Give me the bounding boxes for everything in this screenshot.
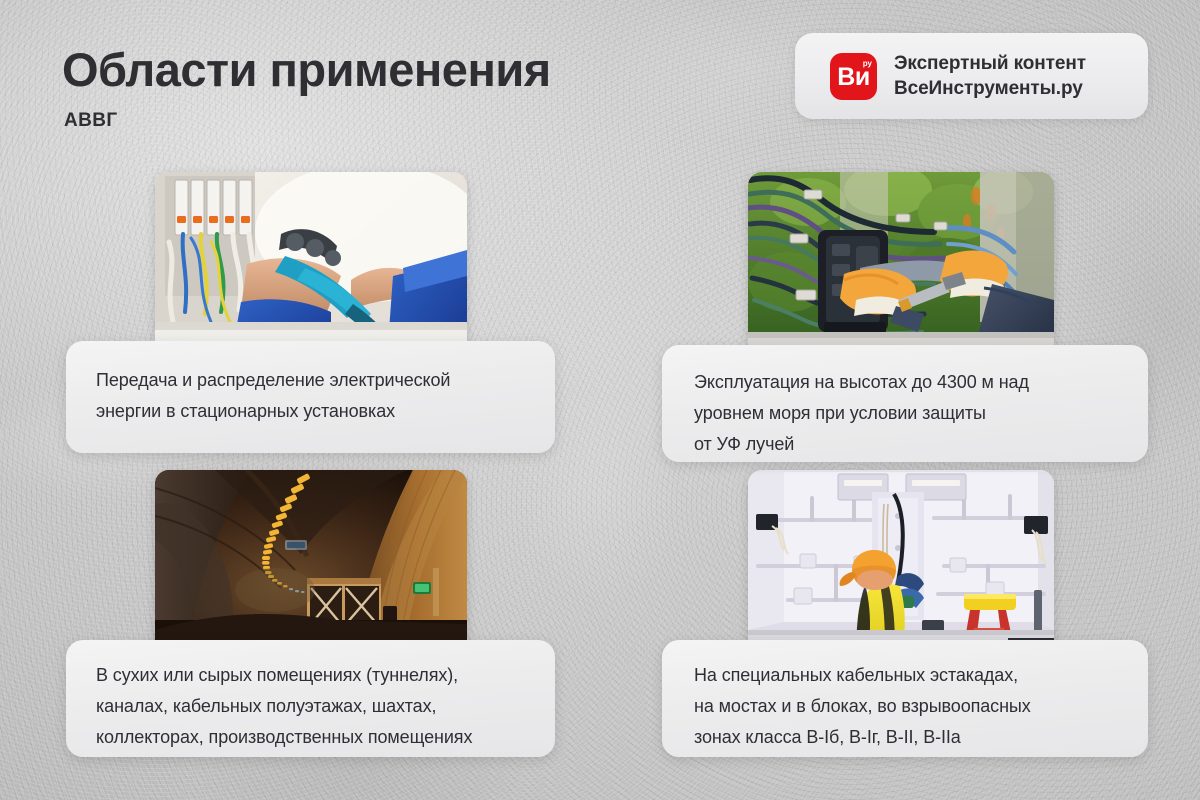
page-title: Области применения [62, 42, 551, 97]
photo-worker-installing-conduit-on-wall [748, 470, 1054, 656]
brand-badge-text: Экспертный контент ВсеИнструменты.ру [894, 51, 1086, 102]
card-altitude: Эксплуатация на высотах до 4300 м над ур… [662, 345, 1148, 462]
page-subtitle: АВВГ [64, 110, 118, 132]
brand-badge-line1: Экспертный контент [894, 51, 1086, 76]
card-racks: На специальных кабельных эстакадах, на м… [662, 640, 1148, 757]
brand-badge: Ви ру Экспертный контент ВсеИнструменты.… [795, 33, 1148, 119]
logo-superscript-text: ру [863, 60, 872, 68]
logo-mark-text: Ви [837, 65, 869, 90]
brand-badge-line2: ВсеИнструменты.ру [894, 76, 1086, 101]
card-racks-text: На специальных кабельных эстакадах, на м… [694, 660, 1031, 753]
card-altitude-text: Эксплуатация на высотах до 4300 м над ур… [694, 367, 1029, 460]
photo-outdoor-cable-junction-box-maintenance [748, 172, 1054, 358]
vseinstrumenty-logo-icon: Ви ру [830, 53, 877, 100]
card-transmission: Передача и распределение электрической э… [66, 341, 555, 453]
card-premises: В сухих или сырых помещениях (туннелях),… [66, 640, 555, 757]
photo-lit-road-tunnel-interior [155, 470, 467, 656]
card-transmission-text: Передача и распределение электрической э… [96, 365, 450, 427]
slide-canvas: Области применения АВВГ Ви ру Экспертный… [0, 0, 1200, 800]
photo-electrician-crimping-wires-in-panel [155, 172, 467, 358]
card-premises-text: В сухих или сырых помещениях (туннелях),… [96, 660, 472, 753]
